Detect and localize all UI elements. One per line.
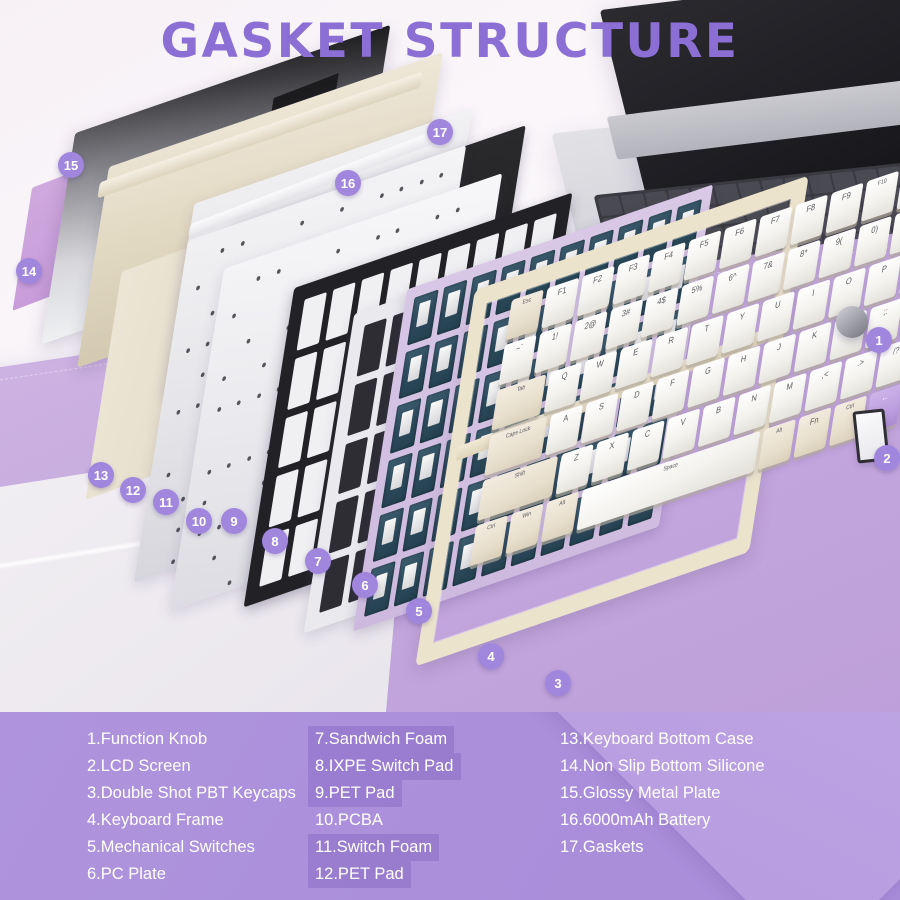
legend-item: 5.Mechanical Switches bbox=[87, 834, 255, 861]
mechanical-switch bbox=[390, 398, 421, 454]
legend-item: 9.PET Pad bbox=[308, 780, 402, 807]
mechanical-switch bbox=[402, 497, 433, 553]
keycap: Alt bbox=[758, 419, 796, 470]
legend-item: 17.Gaskets bbox=[560, 834, 643, 861]
callout-badge-2[interactable]: 2 bbox=[874, 445, 900, 471]
legend-item: 15.Glossy Metal Plate bbox=[560, 780, 721, 807]
callout-badge-12[interactable]: 12 bbox=[120, 477, 146, 503]
mechanical-switch bbox=[419, 388, 450, 444]
legend-item: 12.PET Pad bbox=[308, 861, 411, 888]
mechanical-switch bbox=[411, 443, 442, 499]
mechanical-switch bbox=[381, 453, 412, 509]
part-function-knob bbox=[836, 306, 868, 338]
callout-badge-11[interactable]: 11 bbox=[153, 489, 179, 515]
legend-item: 16.6000mAh Battery bbox=[560, 807, 710, 834]
legend-item: 4.Keyboard Frame bbox=[87, 807, 224, 834]
legend-item: 14.Non Slip Bottom Silicone bbox=[560, 753, 765, 780]
legend-item: 6.PC Plate bbox=[87, 861, 166, 888]
callout-badge-10[interactable]: 10 bbox=[186, 508, 212, 534]
callout-badge-4[interactable]: 4 bbox=[478, 643, 504, 669]
legend-item: 3.Double Shot PBT Keycaps bbox=[87, 780, 296, 807]
mechanical-switch bbox=[373, 507, 404, 563]
legend-bar: 1.Function Knob2.LCD Screen3.Double Shot… bbox=[0, 712, 900, 900]
legend-column-3: 13.Keyboard Bottom Case14.Non Slip Botto… bbox=[530, 726, 900, 900]
callout-badge-16[interactable]: 16 bbox=[335, 170, 361, 196]
legend-item: 1.Function Knob bbox=[87, 726, 207, 753]
diagram-canvas: EscF1F2F3F4F5F6F7F8F9F10F11F12DelPrtsc~`… bbox=[0, 0, 900, 900]
callout-badge-9[interactable]: 9 bbox=[221, 508, 247, 534]
callout-badge-3[interactable]: 3 bbox=[545, 670, 571, 696]
legend-column-1: 1.Function Knob2.LCD Screen3.Double Shot… bbox=[0, 726, 300, 900]
mechanical-switch bbox=[428, 334, 459, 390]
legend-column-2: 7.Sandwich Foam8.IXPE Switch Pad9.PET Pa… bbox=[300, 726, 530, 900]
legend-item: 7.Sandwich Foam bbox=[308, 726, 454, 753]
keycap: Win bbox=[505, 503, 543, 554]
legend-item: 13.Keyboard Bottom Case bbox=[560, 726, 754, 753]
keycap: Fn bbox=[793, 407, 831, 458]
callout-badge-6[interactable]: 6 bbox=[352, 572, 378, 598]
callout-badge-5[interactable]: 5 bbox=[406, 598, 432, 624]
callout-badge-1[interactable]: 1 bbox=[866, 327, 892, 353]
legend-item: 2.LCD Screen bbox=[87, 753, 191, 780]
callout-badge-7[interactable]: 7 bbox=[305, 548, 331, 574]
callout-badge-14[interactable]: 14 bbox=[16, 258, 42, 284]
mechanical-switch bbox=[436, 279, 467, 335]
page-title: GASKET STRUCTURE bbox=[0, 14, 900, 69]
legend-item: 8.IXPE Switch Pad bbox=[308, 753, 461, 780]
legend-item: 11.Switch Foam bbox=[308, 834, 439, 861]
callout-badge-15[interactable]: 15 bbox=[58, 152, 84, 178]
callout-badge-13[interactable]: 13 bbox=[88, 462, 114, 488]
keycap: Alt bbox=[541, 491, 579, 542]
mechanical-switch bbox=[398, 344, 429, 400]
mechanical-switch bbox=[407, 290, 438, 346]
callout-badge-17[interactable]: 17 bbox=[427, 119, 453, 145]
callout-badge-8[interactable]: 8 bbox=[262, 528, 288, 554]
legend-item: 10.PCBA bbox=[308, 807, 390, 834]
